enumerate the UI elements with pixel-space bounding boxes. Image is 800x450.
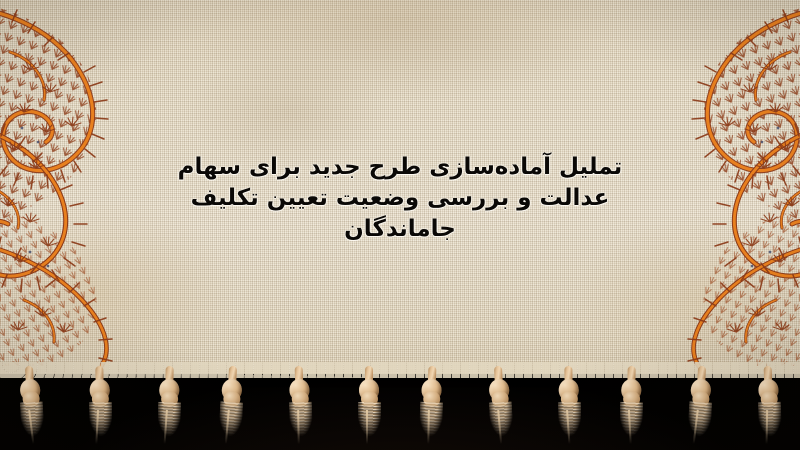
- tassel-skirt: [419, 402, 443, 443]
- tassel-wisp: [366, 410, 368, 444]
- banner-stage: تملیل آماده‌سازی طرح جدید برای سهام عدال…: [0, 0, 800, 450]
- tassel-wisp: [765, 410, 768, 444]
- tassel: [415, 366, 448, 447]
- tassel: [752, 366, 785, 447]
- tassel-skirt: [758, 402, 782, 443]
- tassel: [214, 365, 248, 446]
- tassel-skirt: [289, 402, 313, 443]
- tassel: [683, 365, 717, 446]
- page-title: تملیل آماده‌سازی طرح جدید برای سهام عدال…: [120, 152, 680, 245]
- tassel-skirt: [89, 402, 113, 442]
- headline-line-3: جاماندگان: [120, 214, 680, 245]
- tassel-skirt: [358, 402, 381, 442]
- tassel-skirt: [218, 401, 243, 442]
- tassel-skirt: [620, 402, 644, 442]
- tassel: [354, 366, 384, 446]
- tassel-skirt: [687, 401, 712, 442]
- tassel: [553, 366, 584, 447]
- headline-line-1: تملیل آماده‌سازی طرح جدید برای سهام: [120, 152, 680, 183]
- tassel: [153, 366, 184, 447]
- tassel: [84, 366, 115, 447]
- tassel: [284, 366, 317, 447]
- tassel: [14, 365, 48, 446]
- tassel-skirt: [157, 402, 181, 442]
- headline-line-2: عدالت و بررسی وضعیت تعیین تکلیف: [120, 183, 680, 214]
- tassel: [483, 365, 517, 446]
- tassel-fringe: [0, 366, 800, 450]
- tassel: [616, 366, 647, 447]
